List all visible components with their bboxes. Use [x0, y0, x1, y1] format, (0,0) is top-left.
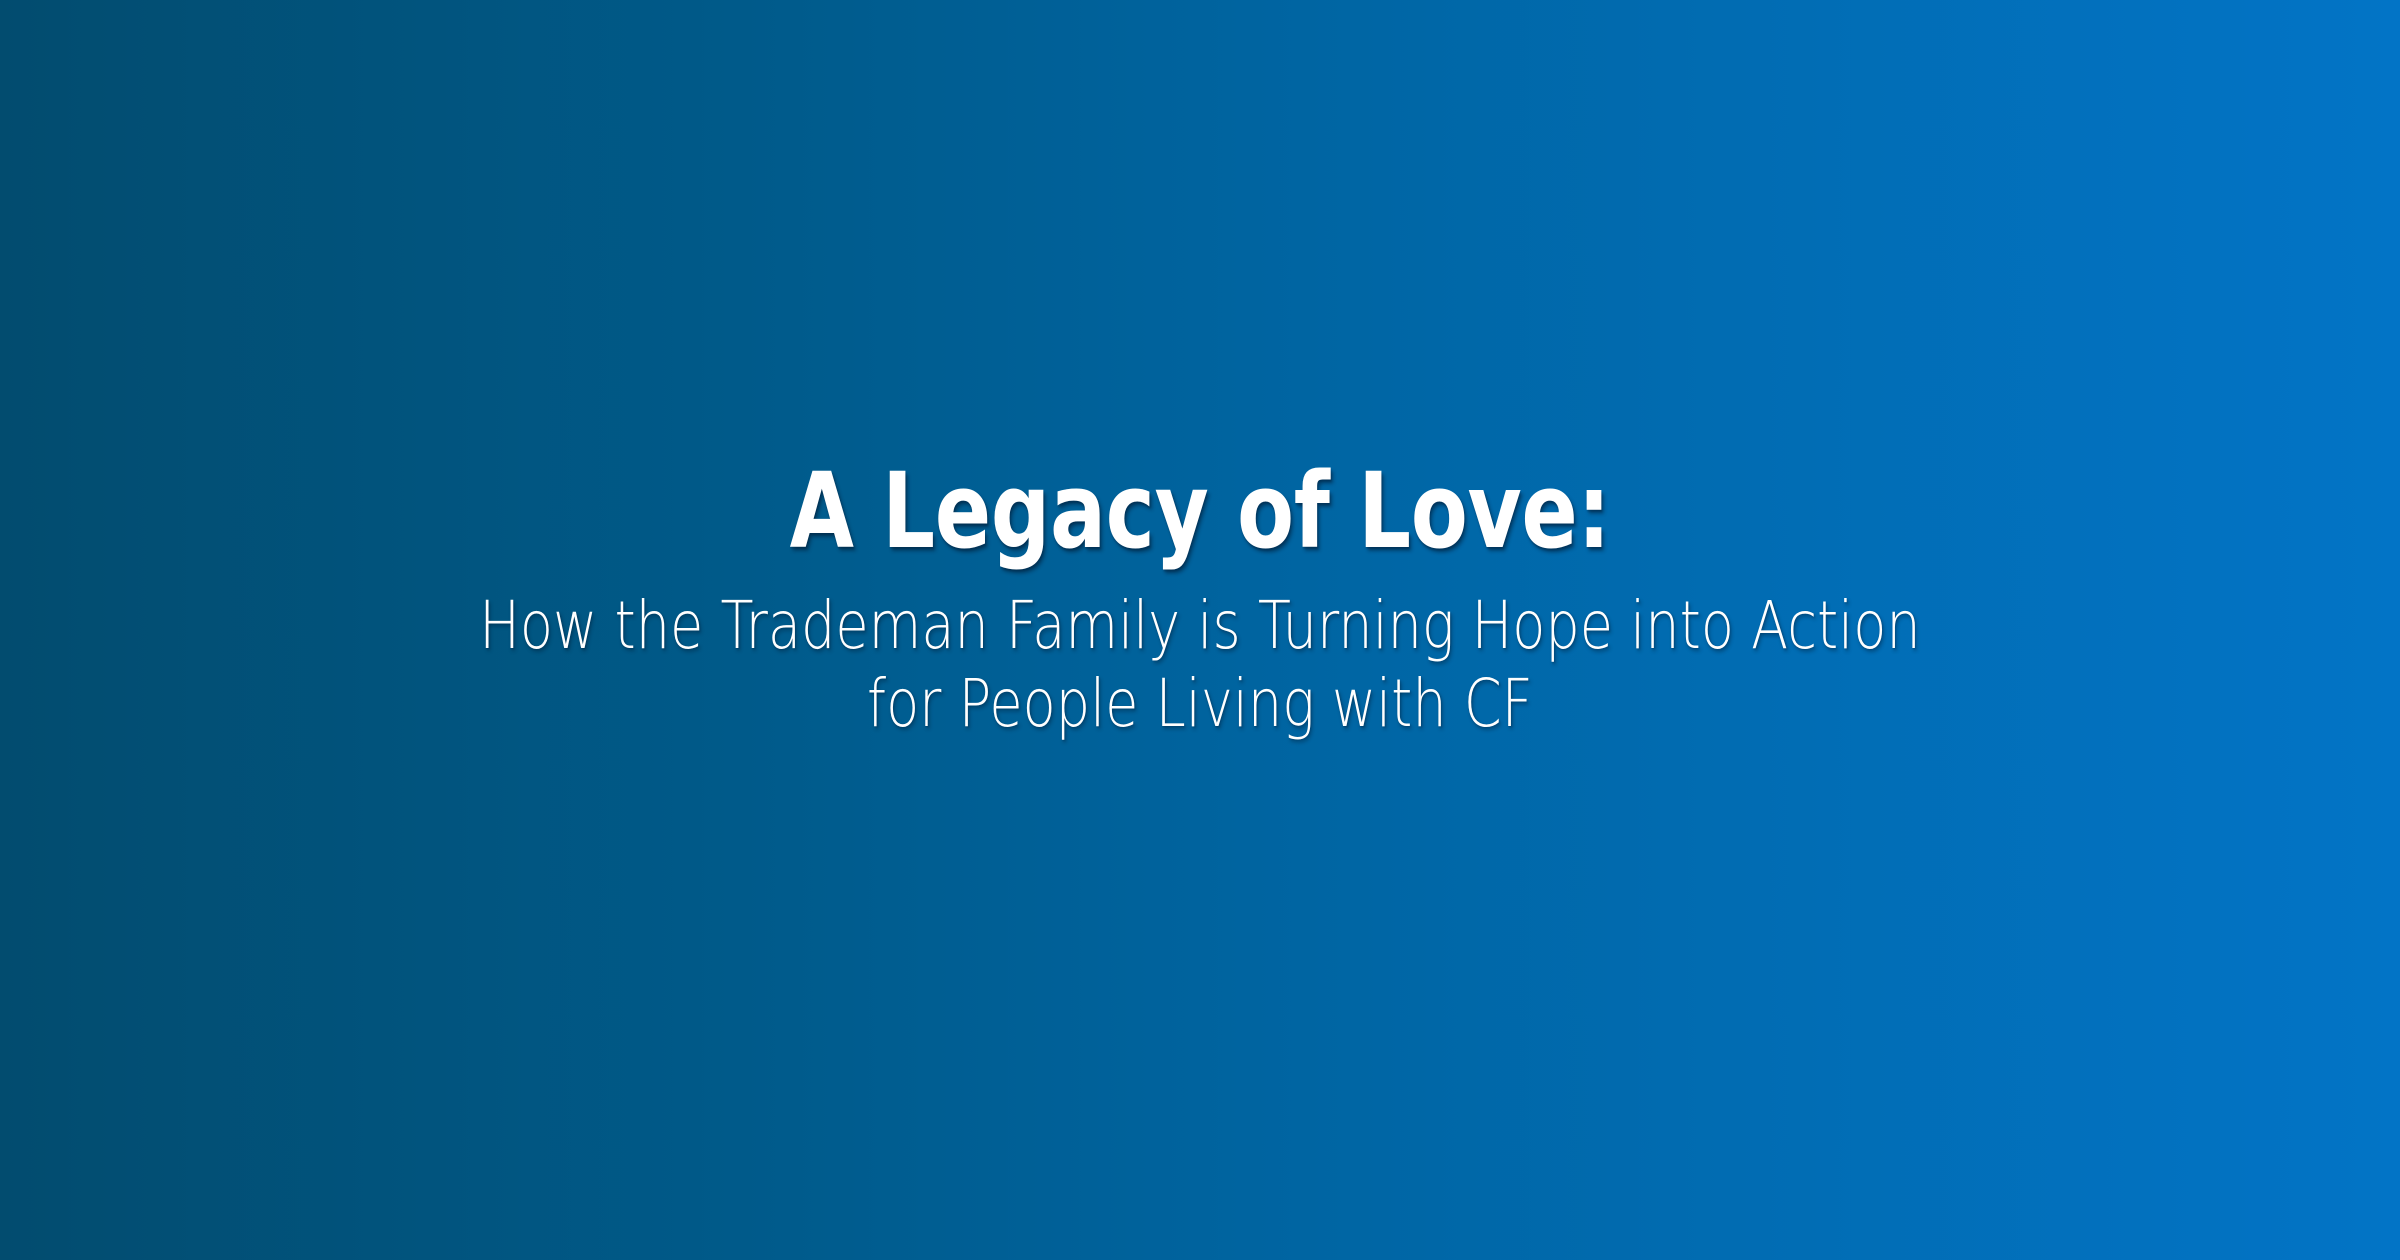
slide-subtitle: How the Trademan Family is Turning Hope …: [479, 567, 1920, 743]
headline-block: A Legacy of Love: How the Trademan Famil…: [0, 455, 2400, 743]
slide-subtitle-line-2: for People Living with CF: [479, 665, 1920, 743]
slide-subtitle-line-1: How the Trademan Family is Turning Hope …: [479, 587, 1920, 665]
slide-title: A Legacy of Love:: [790, 455, 1611, 567]
title-slide: A Legacy of Love: How the Trademan Famil…: [0, 0, 2400, 1260]
